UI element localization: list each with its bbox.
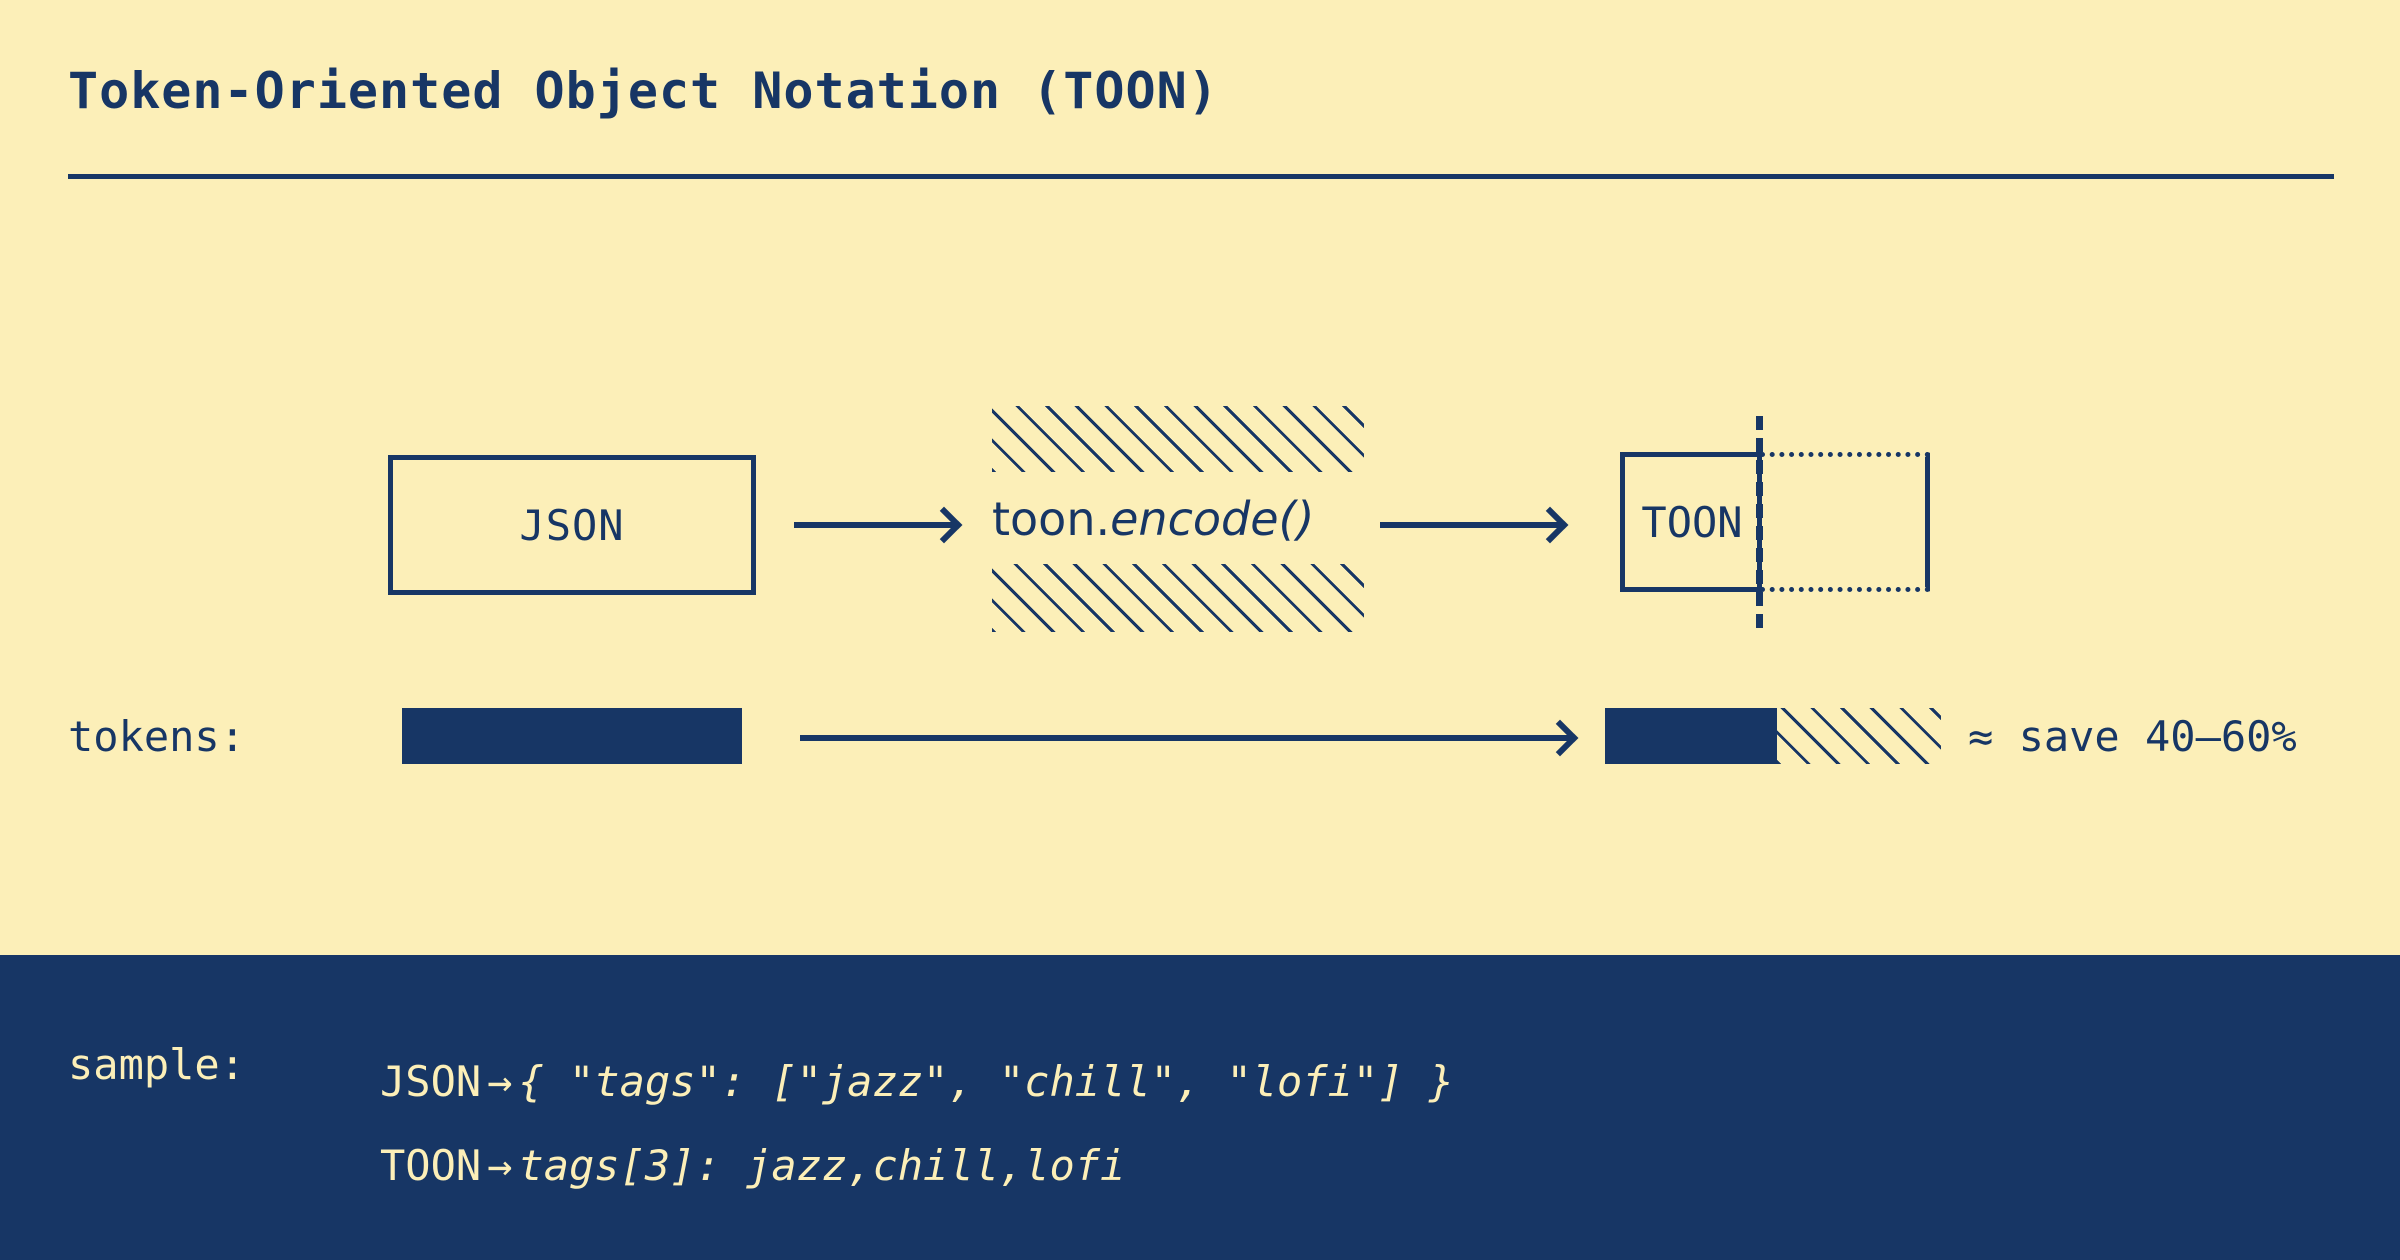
arrow-encode-to-toon-icon [1380, 522, 1560, 528]
sample-line-json: JSON→{ "tags": ["jazz", "chill", "lofi"]… [380, 1040, 1454, 1124]
tokens-bar-toon-saved [1777, 708, 1941, 764]
json-source-box: JSON [388, 455, 756, 595]
arrow-head [1532, 507, 1569, 544]
sample-line-toon-code: tags[3]: jazz,chill,lofi [518, 1141, 1125, 1190]
arrow-json-to-encode-icon [794, 522, 954, 528]
sample-line-json-format: JSON [380, 1057, 481, 1106]
encode-hatch-band-bottom [992, 564, 1364, 632]
arrow-head [1542, 720, 1579, 757]
encode-function: encode() [1110, 492, 1314, 546]
sample-code-lines: JSON→{ "tags": ["jazz", "chill", "lofi"]… [380, 1040, 1454, 1208]
json-source-box-label: JSON [519, 501, 624, 550]
toon-result-box: TOON [1620, 452, 1762, 592]
tokens-bar-toon-filled [1605, 708, 1777, 764]
arrow-tokens-comparison-icon [800, 735, 1570, 741]
toon-saved-space-ghost-box [1760, 452, 1930, 592]
arrow-shaft [800, 735, 1570, 741]
tokens-row-label: tokens: [68, 712, 245, 761]
encode-hatch-band-top [992, 406, 1364, 472]
sample-line-json-arrow-icon: → [481, 1057, 518, 1106]
sample-row-label: sample: [68, 1040, 245, 1089]
title-divider-rule [68, 174, 2334, 179]
tokens-savings-note: ≈ save 40–60% [1968, 712, 2297, 761]
encode-namespace: toon. [992, 492, 1110, 546]
sample-line-toon: TOON→tags[3]: jazz,chill,lofi [380, 1124, 1454, 1208]
toon-result-box-label: TOON [1641, 498, 1742, 547]
sample-line-toon-format: TOON [380, 1141, 481, 1190]
arrow-head [926, 507, 963, 544]
tokens-bar-json [402, 708, 742, 764]
sample-line-toon-arrow-icon: → [481, 1141, 518, 1190]
diagram-canvas: Token-Oriented Object Notation (TOON) JS… [0, 0, 2400, 1260]
sample-line-json-code: { "tags": ["jazz", "chill", "lofi"] } [518, 1057, 1454, 1106]
page-title: Token-Oriented Object Notation (TOON) [68, 62, 1219, 120]
encode-call-label: toon.encode() [992, 496, 1364, 542]
